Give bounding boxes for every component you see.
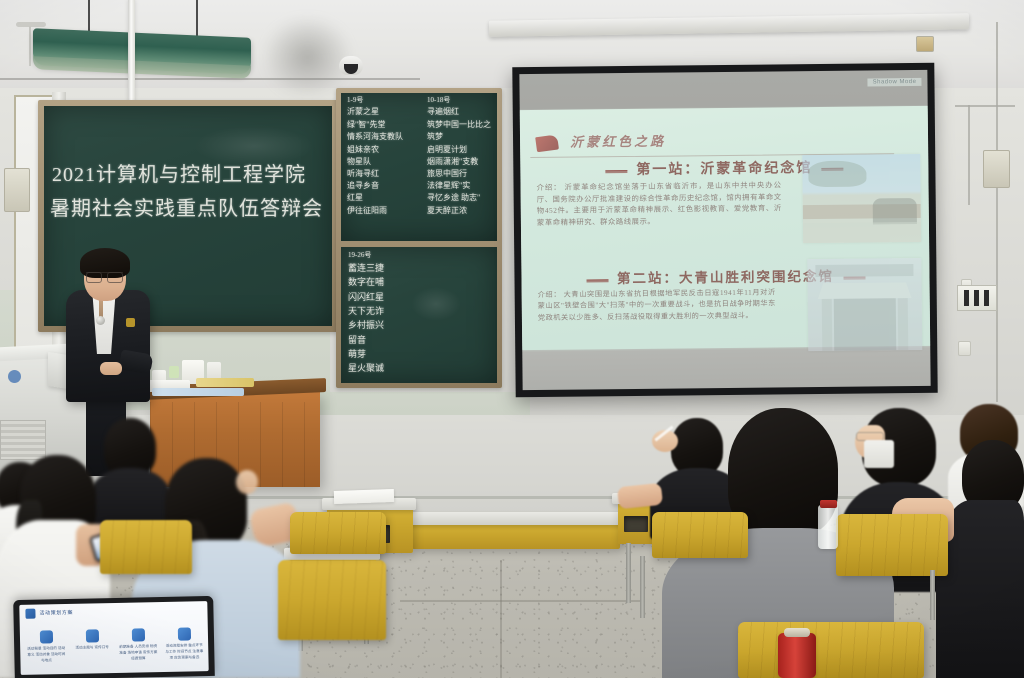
student-collar	[864, 440, 894, 468]
desk-leg-3	[626, 543, 631, 603]
laptop-card-3-text: 活动流程安排 重点环节与工作 时间节点 注意事项 应急预案与备选	[164, 643, 204, 662]
slide-banner-title: 沂蒙红色之路	[570, 131, 666, 151]
bb-col3-item-0: 蓄连三捷	[348, 263, 384, 273]
doc-icon	[131, 628, 144, 641]
bb-col1-item-2: 情系河海支教队	[347, 132, 403, 141]
laptop-card-1-text: 活动主题与 宣传口号	[72, 645, 112, 652]
classroom-scene: 2021计算机与控制工程学院 暑期社会实践重点队伍答辩会 1-9号 沂蒙之星 绿…	[0, 0, 1024, 678]
laptop-screen: 活动策划方案 活动背景 活动目的 活动意义 活动对象 活动时间与地点 活动主题与…	[19, 601, 208, 675]
wall-conduit-drop	[968, 105, 970, 205]
bb-col2-item-1: 筑梦中国一比比之	[427, 120, 491, 129]
water-bottle-clear	[818, 505, 838, 549]
bb-col2-item-4: 烟雨潇湘"支教	[427, 157, 491, 166]
wall-vent	[0, 420, 46, 460]
wall-outlet-lower	[958, 341, 971, 356]
blackboard-left-line2: 暑期社会实践重点队伍答辩会	[50, 198, 323, 221]
bb-col1-item-5: 听海寻红	[347, 169, 403, 178]
bb-col3-item-2: 闪闪红星	[348, 292, 384, 302]
bb-col2-item-0: 寻遍烟红	[427, 107, 491, 116]
student-arm	[617, 483, 663, 509]
slide-section1-body: 介绍： 沂蒙革命纪念馆坐落于山东省临沂市，是山东中共中央办公厅、国务院办公厅批准…	[536, 180, 781, 228]
red-flag-icon	[535, 135, 559, 153]
section2-heading-text: 第二站：大青山胜利突围纪念馆	[617, 269, 834, 286]
doc-icon	[85, 629, 98, 642]
laptop-card-3[interactable]: 活动流程安排 重点环节与工作 时间节点 注意事项 应急预案与备选	[164, 627, 205, 662]
bb-col3-item-5: 留音	[348, 335, 384, 345]
light-switch-panel[interactable]	[957, 285, 997, 311]
bb-col1-item-1: 绿"智"先堂	[347, 120, 403, 129]
bb-col1-item-3: 姐妹亲农	[347, 145, 403, 154]
presenter-hand	[100, 362, 122, 375]
laptop-card-2-text: 前期准备 人员安排 物资准备 场地申请 宣传方案 经费预算	[118, 644, 158, 663]
chair-right-back	[652, 512, 748, 558]
desk-item-sticky-note	[169, 366, 179, 378]
presenter-badge-icon	[126, 318, 135, 327]
bb-col2-item-3: 启明夏计划	[427, 145, 491, 154]
desk-item-notebook	[152, 388, 244, 396]
floor-seam-horizontal	[400, 600, 640, 602]
desk-right-back-cubby	[624, 516, 648, 532]
chair-leg-right-2	[640, 556, 645, 618]
thermos-cap	[784, 628, 810, 637]
presenter-glasses-icon	[86, 272, 123, 280]
blackboard-left-line1: 2021计算机与控制工程学院	[52, 164, 306, 187]
wall-conduit-horizontal	[955, 105, 1015, 107]
desk-row-center	[412, 523, 620, 549]
chair-left-back	[100, 520, 192, 574]
chair-right-front	[738, 622, 924, 678]
blackboard-right-lower: 19-26号 蓄连三捷 数字在哺 闪闪红星 天下无诈 乡村振兴 留音 萌芽 星火…	[341, 247, 497, 383]
heading2-dash-left	[586, 279, 608, 282]
ceiling-wire	[0, 78, 420, 80]
doc-icon	[39, 630, 52, 643]
wall-speaker-left-icon	[4, 168, 30, 212]
wall-smudge	[265, 18, 350, 96]
light-rod-right	[196, 0, 198, 40]
presenter-pendant-icon	[96, 316, 105, 325]
chair-left-middle	[290, 512, 386, 554]
bb-col3-header: 19-26号	[348, 251, 384, 259]
bb-col3-item-3: 天下无诈	[348, 306, 384, 316]
bb-col1-item-4: 物星队	[347, 157, 403, 166]
laptop-title: 活动策划方案	[39, 609, 73, 617]
section1-heading-text: 第一站：沂蒙革命纪念馆	[636, 161, 812, 178]
ceiling-hook	[16, 22, 46, 27]
lectern-logo-icon	[8, 370, 21, 383]
chair-right-middle	[836, 514, 948, 576]
bb-col2-item-8: 夏天醉正浓	[427, 206, 491, 215]
bb-col2-item-5: 旅思中国行	[427, 169, 491, 178]
laptop-card-2[interactable]: 前期准备 人员安排 物资准备 场地申请 宣传方案 经费预算	[118, 628, 159, 663]
projection-screen-surface: Shadow Mode 沂蒙红色之路 第一站：沂蒙革命纪念馆 介绍： 沂蒙革命纪…	[519, 70, 930, 390]
bb-col1-item-8: 伊往征阳雨	[347, 206, 403, 215]
slide-section2-body: 介绍： 大青山突围是山东省抗日根据地军民反击日寇1941年11月对沂蒙山区"铁壁…	[538, 288, 776, 324]
bb-col3-item-4: 乡村振兴	[348, 320, 384, 330]
laptop-card-0[interactable]: 活动背景 活动目的 活动意义 活动对象 活动时间与地点	[26, 630, 67, 665]
wall-bracket	[916, 36, 934, 52]
bb-col3-item-7: 星火聚诚	[348, 363, 384, 373]
bb-col1-header: 1-9号	[347, 96, 403, 104]
wall-conduit-vertical	[996, 22, 998, 402]
papers-on-desk	[334, 489, 394, 504]
student-face-side	[236, 470, 258, 494]
bb-col3-item-6: 萌芽	[348, 349, 384, 359]
projection-screen[interactable]: Shadow Mode 沂蒙红色之路 第一站：沂蒙革命纪念馆 介绍： 沂蒙革命纪…	[512, 63, 937, 397]
slide-watermark: Shadow Mode	[868, 78, 922, 87]
bb-col3-item-1: 数字在哺	[348, 277, 384, 287]
doc-icon	[177, 627, 190, 640]
floor-seam-vertical	[500, 560, 502, 678]
heading-dash-left	[605, 170, 627, 173]
blackboard-right-upper: 1-9号 沂蒙之星 绿"智"先堂 情系河海支教队 姐妹亲农 物星队 听海寻红 追…	[341, 93, 497, 241]
slide-banner: 沂蒙红色之路	[524, 128, 916, 158]
desk-item-folder	[196, 378, 254, 387]
bb-col1-item-7: 红星	[347, 193, 403, 202]
app-logo-icon	[25, 609, 35, 619]
bb-col2-item-2: 筑梦	[427, 132, 491, 141]
desk-row-center-top	[408, 512, 624, 525]
slide-photo-memorial-hall	[802, 154, 921, 243]
chair-left-front	[278, 560, 386, 640]
slide-content: 沂蒙红色之路 第一站：沂蒙革命纪念馆 介绍： 沂蒙革命纪念馆坐落于山东省临沂市，…	[520, 106, 930, 350]
laptop-card-1[interactable]: 活动主题与 宣传口号	[72, 629, 112, 652]
water-bottle-cap	[820, 500, 837, 508]
chair-leg-right	[930, 570, 935, 620]
bb-col2-item-7: 寻忆乡途 助志"	[427, 193, 491, 202]
laptop-card-0-text: 活动背景 活动目的 活动意义 活动对象 活动时间与地点	[26, 646, 66, 665]
slide-photo-building-facade	[807, 258, 922, 351]
thermos-bottle-red	[778, 633, 816, 678]
wall-speaker-right-icon	[983, 150, 1010, 188]
bb-col1-item-6: 追寻乡音	[347, 181, 403, 190]
bb-col2-header: 10-18号	[427, 96, 491, 104]
bb-col2-item-6: 法律星辉"实	[427, 181, 491, 190]
laptop[interactable]: 活动策划方案 活动背景 活动目的 活动意义 活动对象 活动时间与地点 活动主题与…	[13, 596, 215, 678]
ceiling-dome-camera-icon	[339, 56, 363, 75]
bb-col1-item-0: 沂蒙之星	[347, 107, 403, 116]
